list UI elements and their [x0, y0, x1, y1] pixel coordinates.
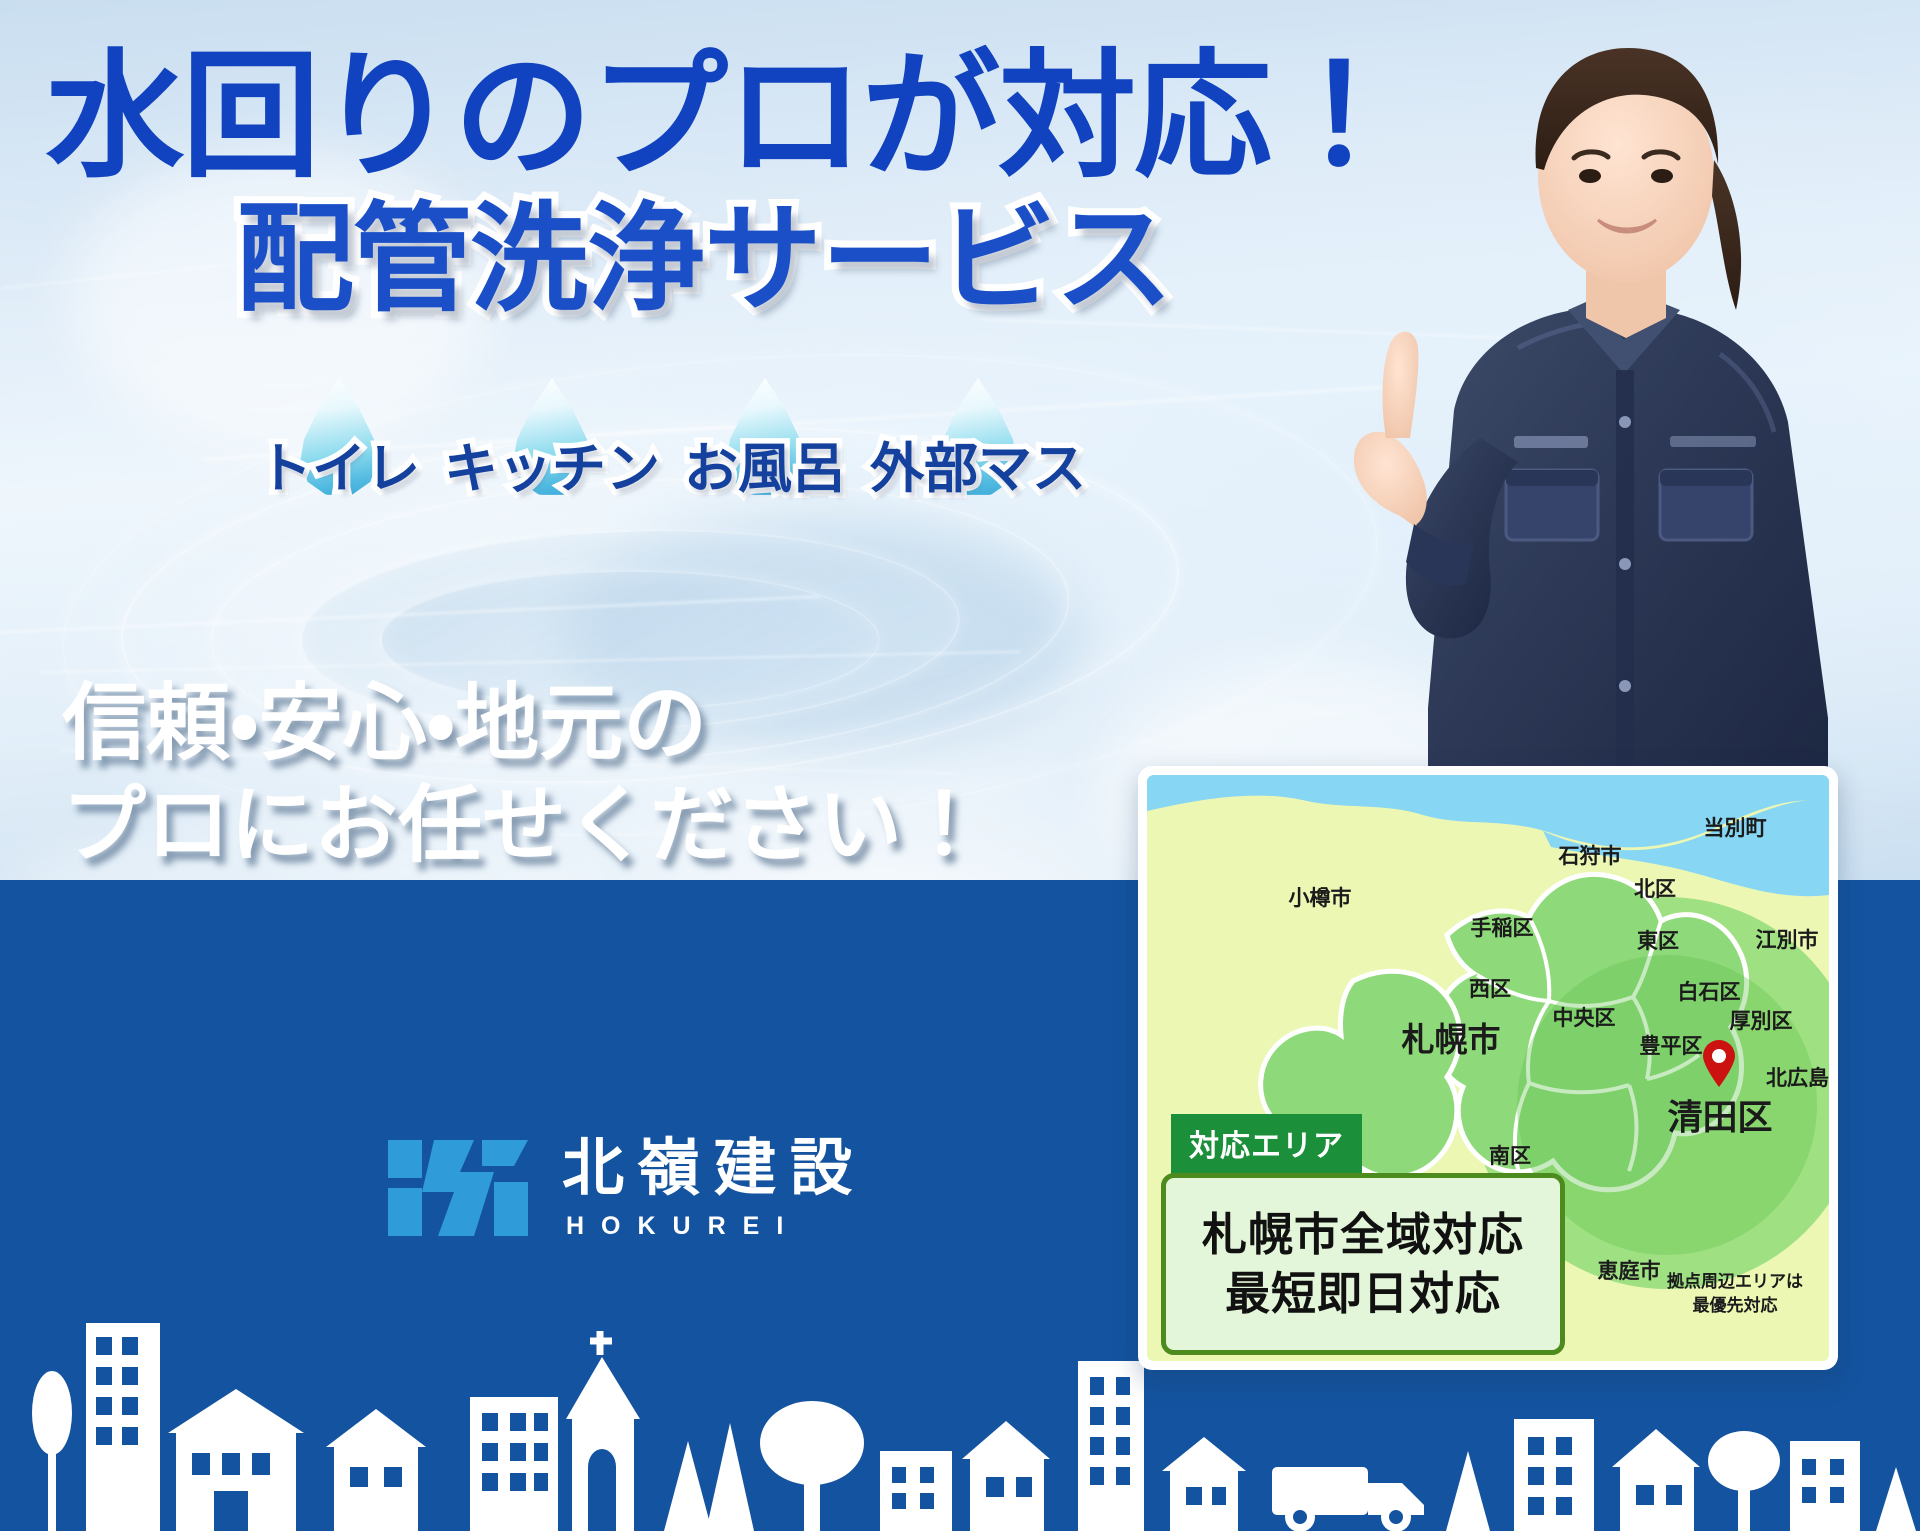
service-tag: 外部マス	[870, 378, 1086, 503]
service-area-callout: 札幌市全域対応 最短即日対応	[1161, 1173, 1565, 1355]
service-tag-label: お風呂	[684, 424, 846, 503]
map-label-teine-ku: 手稲区	[1471, 912, 1534, 942]
page-title: 水回りのプロが対応！	[46, 44, 1406, 190]
service-area-map-panel: 当別町 石狩市 小樽市 北区 手稲区 東区 江別市 西区 白石区 中央区 厚別区…	[1138, 766, 1838, 1370]
map-footnote: 拠点周辺エリアは 最優先対応	[1667, 1270, 1803, 1319]
map-label-ishikari: 石狩市	[1559, 840, 1622, 870]
company-name-en: HOKUREI	[566, 1214, 866, 1239]
company-name-jp: 北嶺建設	[562, 1138, 866, 1200]
map-label-eniwa: 恵庭市	[1598, 1255, 1661, 1285]
service-tag-list: トイレ キッチン お風呂 外部マス	[258, 378, 1086, 503]
service-area-badge: 対応エリア	[1171, 1114, 1362, 1174]
service-title: 配管洗浄サービス	[236, 196, 1172, 326]
callout-line-1: 札幌市全域対応	[1202, 1208, 1524, 1261]
map-label-toyohira-ku: 豊平区	[1640, 1030, 1703, 1060]
service-tag-label: トイレ	[258, 424, 420, 503]
map-label-minami-ku: 南区	[1489, 1140, 1531, 1170]
map-label-ebetsu: 江別市	[1756, 924, 1819, 954]
logo-text: 北嶺建設 HOKUREI	[562, 1138, 866, 1239]
map-label-shiroishi-ku: 白石区	[1678, 976, 1741, 1006]
map-label-kita-ku: 北区	[1634, 873, 1676, 903]
sub-headline: 信頼・安心・地元の プロにお任せください！	[62, 672, 986, 877]
map-label-atsubetsu-ku: 厚別区	[1730, 1005, 1793, 1035]
map-label-chuo-ku: 中央区	[1553, 1002, 1616, 1032]
hokurei-monogram-icon	[382, 1132, 534, 1244]
service-tag: キッチン	[444, 378, 660, 503]
map-label-sapporo-city: 札幌市	[1402, 1013, 1501, 1061]
service-tag-label: 外部マス	[870, 424, 1086, 503]
map-label-nishi-ku: 西区	[1469, 973, 1511, 1003]
map-label-otaru: 小樽市	[1289, 882, 1352, 912]
map-canvas: 当別町 石狩市 小樽市 北区 手稲区 東区 江別市 西区 白石区 中央区 厚別区…	[1147, 775, 1829, 1361]
map-label-tobetsu: 当別町	[1704, 812, 1767, 842]
advertisement-banner: 水回りのプロが対応！ 配管洗浄サービス トイレ キッチン お風呂 外部マス 信頼…	[0, 0, 1920, 1531]
company-logo: 北嶺建設 HOKUREI	[382, 1132, 866, 1244]
map-label-kitahiroshima: 北広島市	[1766, 1062, 1829, 1092]
location-pin-icon	[1701, 1040, 1737, 1093]
service-tag-label: キッチン	[444, 424, 660, 503]
service-tag: お風呂	[684, 378, 846, 503]
map-label-higashi-ku: 東区	[1637, 925, 1679, 955]
map-label-kiyota-ku: 清田区	[1667, 1090, 1772, 1141]
callout-line-2: 最短即日対応	[1225, 1267, 1501, 1320]
service-tag: トイレ	[258, 378, 420, 503]
worker-photo	[1268, 18, 1888, 858]
